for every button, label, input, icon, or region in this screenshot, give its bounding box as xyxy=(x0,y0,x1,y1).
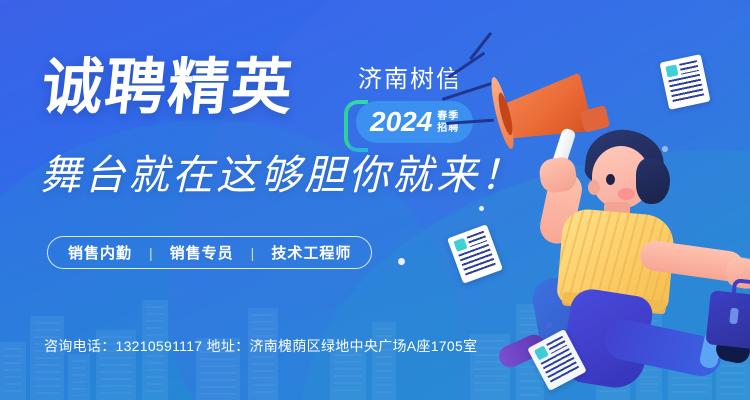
hero-illustration xyxy=(440,40,750,370)
pill-separator: | xyxy=(251,245,255,261)
job-position-2: 销售专员 xyxy=(170,242,234,263)
job-position-1: 销售内勤 xyxy=(68,242,132,263)
job-position-3: 技术工程师 xyxy=(271,242,351,263)
resume-document-icon xyxy=(659,54,710,110)
character-hair-side xyxy=(636,158,670,204)
character-eye xyxy=(606,174,615,185)
job-positions-pill: 销售内勤 | 销售专员 | 技术工程师 xyxy=(47,236,372,269)
motion-line xyxy=(442,82,492,100)
decorative-dot xyxy=(398,258,405,265)
briefcase-clasp xyxy=(729,308,739,325)
motion-line xyxy=(446,119,494,125)
badge-year: 2024 xyxy=(370,108,432,136)
page-title: 诚聘精英 xyxy=(39,57,297,118)
pill-separator: | xyxy=(149,245,153,261)
megaphone-neck xyxy=(580,105,611,133)
recruitment-banner: 诚聘精英 济南树信 2024 春季 招聘 舞台就在这够胆你就来！ 销售内勤 | … xyxy=(0,0,750,400)
character-ear xyxy=(588,180,600,195)
character-cheek xyxy=(618,188,635,200)
motion-line xyxy=(447,52,485,79)
briefcase-icon xyxy=(705,290,750,352)
resume-document-icon xyxy=(447,224,503,283)
contact-info: 咨询电话：13210591117 地址：济南槐荫区绿地中央广场A座1705室 xyxy=(44,336,477,356)
